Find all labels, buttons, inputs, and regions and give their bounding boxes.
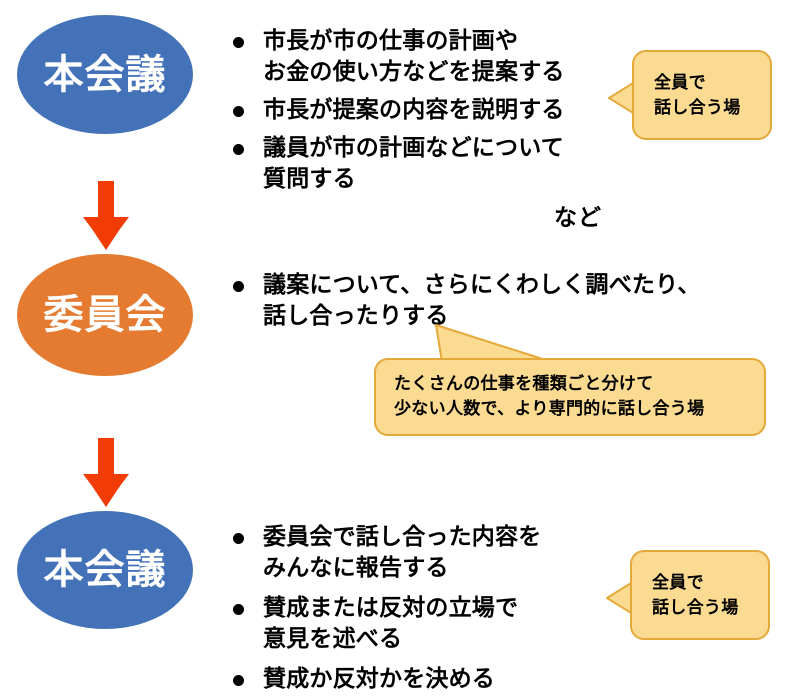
list-item: 賛成か反対かを決める [227, 664, 647, 695]
stage-node-honkaigi-1: 本会議 [17, 15, 193, 134]
list-item: 市長が市の仕事の計画や お金の使い方などを提案する [227, 26, 647, 88]
callout-bubble-honkaigi-1: 全員で 話し合う場 [632, 50, 772, 140]
bullet-list-honkaigi-1: 市長が市の仕事の計画や お金の使い方などを提案する 市長が提案の内容を説明する … [227, 26, 647, 202]
bullet-list-honkaigi-2: 委員会で話し合った内容を みんなに報告する 賛成または反対の立場で 意見を述べる… [227, 522, 647, 700]
callout-bubble-honkaigi-2: 全員で 話し合う場 [630, 550, 770, 640]
etcetera-note: など [554, 198, 602, 232]
callout-label: 全員で 話し合う場 [652, 571, 739, 621]
callout-label: たくさんの仕事を種類ごと分けて 少ない人数で、より専門的に話し合う場 [394, 372, 704, 422]
list-item: 賛成または反対の立場で 意見を述べる [227, 593, 647, 655]
stage-label: 委員会 [44, 295, 167, 335]
stage-node-iinkai: 委員会 [17, 254, 193, 376]
list-item: 市長が提案の内容を説明する [227, 95, 647, 126]
stage-label: 本会議 [44, 550, 167, 590]
list-item: 議員が市の計画などについて 質問する [227, 133, 647, 195]
list-item: 議案について、さらにくわしく調べたり、 話し合ったりする [227, 270, 737, 332]
callout-bubble-iinkai: たくさんの仕事を種類ごと分けて 少ない人数で、より専門的に話し合う場 [374, 358, 766, 436]
flow-arrow-down-icon [76, 181, 136, 253]
stage-node-honkaigi-2: 本会議 [17, 511, 193, 629]
flow-arrow-down-icon [76, 438, 136, 510]
callout-label: 全員で 話し合う場 [654, 71, 741, 121]
diagram-canvas: 本会議 市長が市の仕事の計画や お金の使い方などを提案する 市長が提案の内容を説… [0, 0, 785, 700]
bullet-list-iinkai: 議案について、さらにくわしく調べたり、 話し合ったりする [227, 270, 737, 332]
stage-label: 本会議 [44, 55, 167, 95]
list-item: 委員会で話し合った内容を みんなに報告する [227, 522, 647, 584]
